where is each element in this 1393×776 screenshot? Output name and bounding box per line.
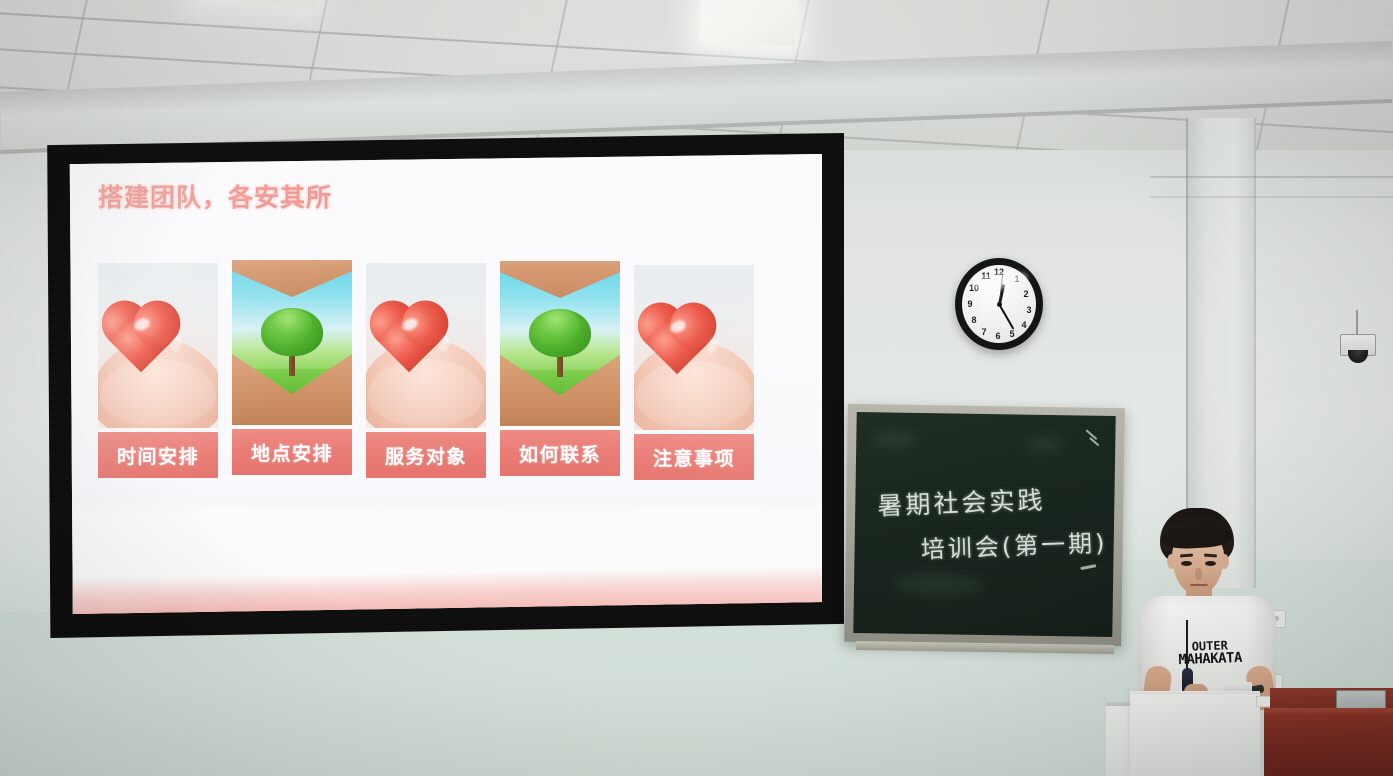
wooden-desk <box>1264 714 1393 776</box>
slide-tile-label: 如何联系 <box>500 430 620 476</box>
clock-numeral: 6 <box>992 331 1004 341</box>
presenter-eye <box>1181 561 1192 566</box>
slide-tile-row: 时间安排 地点安排 <box>98 259 788 489</box>
slide-tile[interactable]: 时间安排 <box>98 263 218 478</box>
presenter: OUTER MAHAKATA <box>1132 508 1282 708</box>
presentation-slide: 搭建团队，各安其所 时间安排 <box>66 154 822 614</box>
classroom-photo-scene: 搭建团队，各安其所 时间安排 <box>0 0 1393 776</box>
tree-in-hands-icon <box>500 261 620 426</box>
blackboard: 暑期社会实践 培训会(第一期) <box>853 412 1115 637</box>
slide-tile-label: 服务对象 <box>366 432 486 478</box>
tree-in-hands-icon <box>232 260 352 425</box>
presenter-ear <box>1220 554 1229 569</box>
heart-in-hands-icon <box>366 263 486 428</box>
microphone-cable <box>1186 620 1188 672</box>
clock-numeral: 7 <box>978 327 990 337</box>
clock-numeral: 3 <box>1023 305 1035 315</box>
clock-face: 12 1 2 3 4 5 6 7 8 9 10 11 <box>962 265 1036 343</box>
slide-title: 搭建团队，各安其所 <box>98 178 332 214</box>
presenter-eye <box>1205 561 1216 566</box>
lectern-podium <box>1130 694 1260 776</box>
clock-numeral: 8 <box>968 315 980 325</box>
wall-clock: 12 1 2 3 4 5 6 7 8 9 10 11 <box>955 258 1043 350</box>
blackboard-frame: 暑期社会实践 培训会(第一期) <box>844 404 1125 646</box>
wall-seam <box>1150 176 1393 178</box>
clock-numeral: 2 <box>1020 289 1032 299</box>
slide-tile[interactable]: 地点安排 <box>232 260 352 475</box>
clock-numeral: 9 <box>964 299 976 309</box>
slide-tile-label: 注意事项 <box>634 434 754 480</box>
slide-tile[interactable]: 服务对象 <box>366 263 486 478</box>
wall-seam <box>1150 196 1393 198</box>
blackboard-text-line1: 暑期社会实践 <box>877 481 1046 523</box>
clock-numeral: 4 <box>1018 320 1030 330</box>
projector-screen[interactable]: 搭建团队，各安其所 时间安排 <box>66 154 822 614</box>
clock-numeral: 5 <box>1006 329 1018 339</box>
heart-in-hands-icon <box>634 265 754 430</box>
presenter-ear <box>1167 554 1176 569</box>
slide-tile[interactable]: 注意事项 <box>634 265 754 480</box>
blackboard-text-line2: 培训会(第一期) <box>920 523 1108 565</box>
ceiling-light-panel <box>195 0 316 7</box>
clock-pivot <box>997 302 1002 307</box>
clock-minute-hand <box>998 304 1014 330</box>
slide-tile-label: 时间安排 <box>98 432 218 478</box>
slide-tile[interactable]: 如何联系 <box>500 261 620 476</box>
slide-tile-label: 地点安排 <box>232 429 352 475</box>
presenter-nose <box>1195 568 1202 580</box>
ceiling-light-panel <box>699 0 798 46</box>
tshirt-graphic: OUTER MAHAKATA <box>1162 638 1259 668</box>
heart-in-hands-icon <box>98 263 218 428</box>
